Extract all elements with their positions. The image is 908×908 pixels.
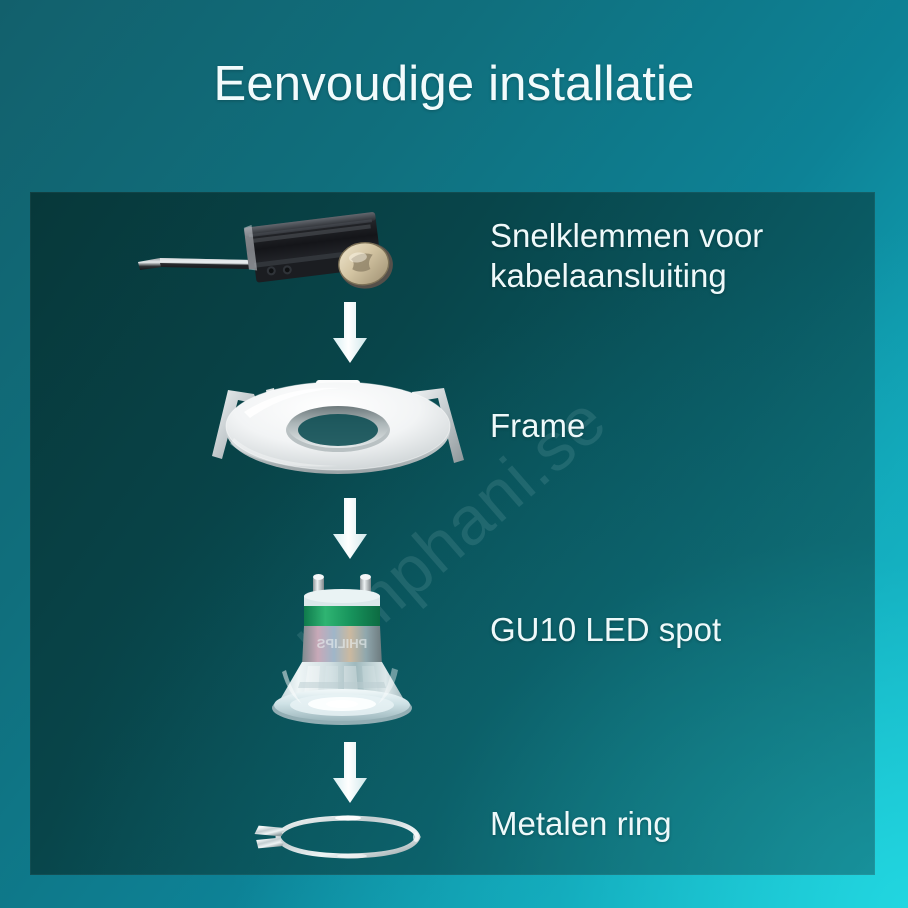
frame-art <box>198 360 498 485</box>
metal-ring-art <box>248 804 448 870</box>
quick-connector-art <box>130 200 390 310</box>
step-2-label: Frame <box>490 406 830 446</box>
arrow-down-2 <box>322 498 378 560</box>
step-3-label: GU10 LED spot <box>490 610 830 650</box>
gu10-lamp-art: PHILIPS <box>260 570 440 730</box>
arrow-down-1 <box>322 302 378 364</box>
page-title: Eenvoudige installatie <box>0 58 908 112</box>
infographic-canvas: Eenvoudige installatie lamphani.se <box>0 0 908 908</box>
metal-ring-body-icon <box>278 818 418 856</box>
arrow-down-3 <box>322 742 378 804</box>
diagram-panel: lamphani.se <box>30 192 875 875</box>
step-1-label: Snelklemmen voor kabelaansluiting <box>490 216 830 297</box>
lamp-green-band-icon <box>304 606 380 626</box>
svg-text:PHILIPS: PHILIPS <box>316 636 367 651</box>
step-4-label: Metalen ring <box>490 804 830 844</box>
